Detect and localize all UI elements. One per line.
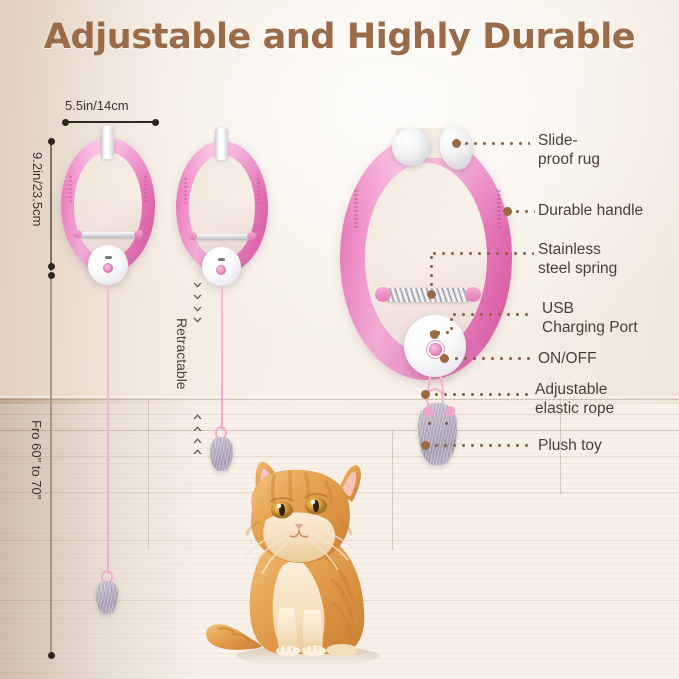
plush-toy-eye-right [445, 422, 448, 425]
callout-leader-durable-handle [513, 210, 535, 213]
callout-leader-on-off [452, 357, 534, 360]
chevron-down-icon: › [192, 413, 204, 421]
width-measurement-endpoint [152, 119, 159, 126]
height-measurement-endpoint [48, 263, 55, 270]
height-measurement-line [50, 141, 52, 271]
callout-anchor-durable-handle [503, 207, 512, 216]
spring-tab-right [465, 287, 481, 302]
adjustable-elastic-rope-left [107, 284, 109, 574]
drop-range-line [50, 275, 52, 655]
callout-leader-usb-charging-port [450, 313, 534, 316]
drop-range-endpoint [48, 272, 55, 279]
callout-label-durable-handle: Durable handle [538, 201, 643, 220]
chevron-up-icon: ‹ [192, 316, 204, 324]
callout-leader-hub-usb [434, 331, 452, 334]
cat-front-leg-right [303, 610, 323, 650]
width-measurement-line [65, 121, 156, 123]
retractable-label: Retractable [174, 318, 190, 390]
on-off-button-middle [216, 265, 226, 275]
drop-range-label: Fro 60" to 70" [29, 420, 44, 499]
on-off-button-left [103, 263, 113, 273]
handle-grip-texture [184, 178, 187, 204]
width-measurement-endpoint [62, 119, 69, 126]
callout-leader-v-stainless-steel-spring [430, 253, 433, 293]
ring-hole [74, 152, 142, 259]
spring-tab [247, 232, 256, 240]
callout-label-usb-charging-port: USB Charging Port [542, 299, 638, 337]
spring-tab [188, 232, 197, 240]
callout-leader-slide-proof-rug [462, 142, 530, 145]
height-measurement-label: 9.2in/23.5cm [30, 152, 45, 226]
callout-anchor-on-off [440, 354, 449, 363]
ring-hole [189, 155, 255, 260]
on-off-button-main [429, 343, 442, 356]
chevron-down-icon: › [192, 425, 204, 433]
callout-anchor-plush-toy [421, 441, 430, 450]
chevron-up-stack: ‹ ‹ ‹ ‹ [194, 279, 202, 326]
usb-charging-port-left [105, 256, 112, 259]
handle-grip-texture [257, 178, 260, 204]
callout-label-plush-toy: Plush toy [538, 436, 602, 455]
slide-proof-rug-middle [215, 128, 228, 160]
plush-toy-eye-left [428, 422, 431, 425]
callout-leader-plush-toy [432, 444, 534, 447]
product-infographic: Adjustable and Highly Durable 5.5in/14cm… [0, 0, 679, 679]
slide-proof-rug-main-left [392, 128, 430, 166]
callout-leader-stainless-steel-spring [430, 252, 534, 255]
chevron-up-icon: ‹ [192, 281, 204, 289]
stainless-steel-spring-middle [194, 234, 250, 240]
chevron-down-icon: › [192, 437, 204, 445]
cat-svg [200, 448, 430, 678]
stainless-steel-spring-left [79, 232, 137, 238]
drop-range-endpoint [48, 652, 55, 659]
cat-hind-paw [326, 644, 358, 656]
slide-proof-rug-left [101, 126, 114, 159]
plush-toy-tail-left [101, 608, 110, 644]
handle-grip-texture-main [354, 190, 358, 228]
callout-anchor-adjustable-elastic-rope [421, 390, 430, 399]
adjustable-elastic-rope-middle [221, 285, 223, 430]
spring-tab [73, 230, 82, 238]
spring-tab [134, 230, 143, 238]
page-title: Adjustable and Highly Durable [0, 17, 679, 57]
cat-front-leg-left [277, 608, 297, 650]
callout-label-adjustable-elastic-rope: Adjustable elastic rope [535, 380, 614, 418]
chevron-up-icon: ‹ [192, 305, 204, 313]
usb-charging-port-middle [218, 258, 225, 261]
height-measurement-endpoint [48, 138, 55, 145]
width-measurement-label: 5.5in/14cm [65, 98, 129, 113]
handle-grip-texture [144, 176, 147, 202]
spring-tab-left [375, 287, 391, 302]
callout-leader-adjustable-elastic-rope [432, 393, 534, 396]
callout-anchor-slide-proof-rug [452, 139, 461, 148]
handle-grip-texture [69, 176, 72, 202]
callout-label-on-off: ON/OFF [538, 349, 597, 368]
callout-label-slide-proof-rug: Slide- proof rug [538, 131, 600, 169]
handle-grip-texture-main [497, 190, 501, 228]
callout-label-stainless-steel-spring: Stainless steel spring [538, 240, 617, 278]
chevron-up-icon: ‹ [192, 293, 204, 301]
